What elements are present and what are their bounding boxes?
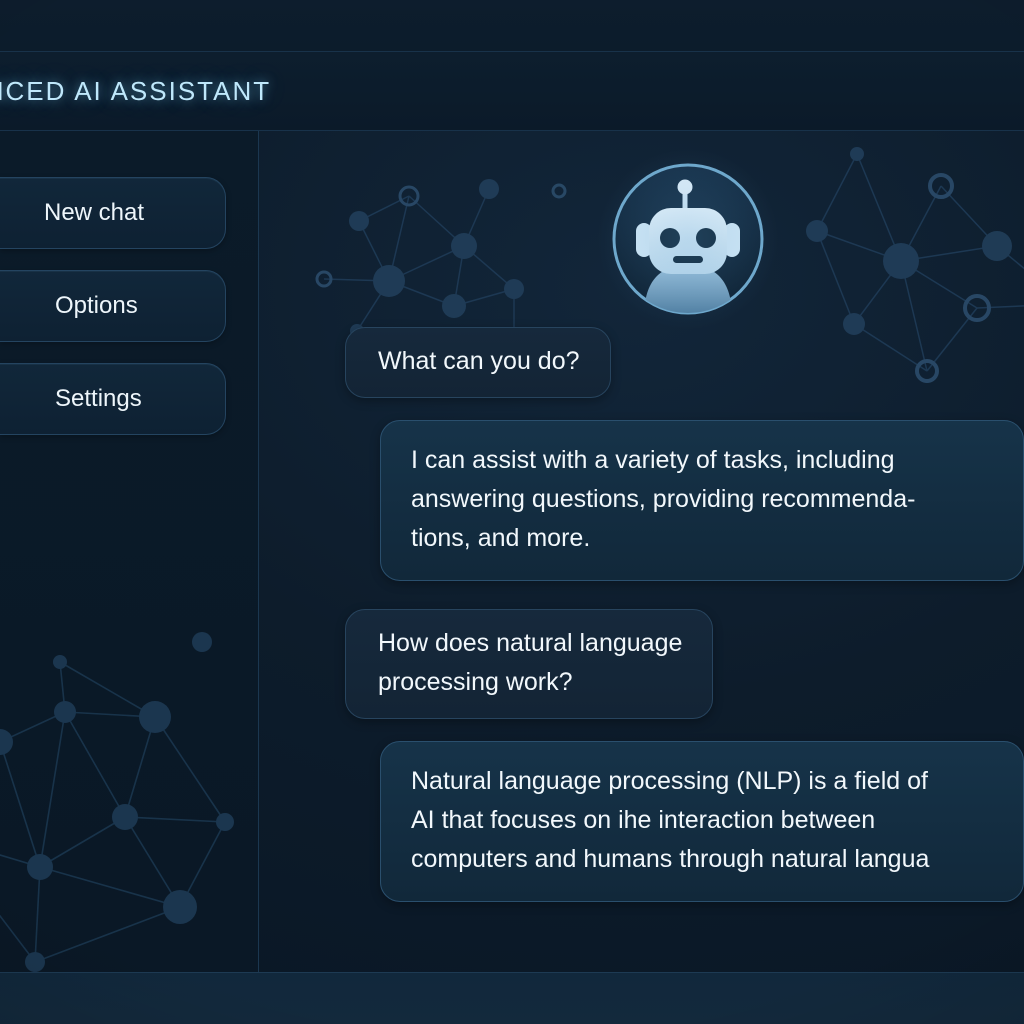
- app-window: VANCED AI ASSISTANT: [0, 0, 1024, 1024]
- app-footer: [0, 972, 1024, 1024]
- sidebar-item-label: New chat: [44, 199, 144, 227]
- sidebar-item-settings[interactable]: Settings: [0, 363, 226, 435]
- message-list: What can you do? I can assist with a var…: [259, 327, 1024, 902]
- spacer: [259, 581, 1024, 609]
- message-line: What can you do?: [378, 342, 580, 381]
- assistant-message-bubble[interactable]: Natural language processing (NLP) is a f…: [380, 741, 1024, 902]
- chat-panel: What can you do? I can assist with a var…: [259, 131, 1024, 972]
- avatar: [610, 161, 766, 317]
- avatar-glow: [594, 145, 782, 333]
- network-decoration-icon: [0, 622, 259, 972]
- sidebar-nav: New chat Options Settings: [0, 177, 226, 456]
- message-row: Natural language processing (NLP) is a f…: [259, 741, 1024, 902]
- sidebar-item-label: Options: [55, 292, 138, 320]
- window-top-strip: [0, 0, 1024, 52]
- spacer: [259, 719, 1024, 741]
- app-body: New chat Options Settings: [0, 131, 1024, 972]
- sidebar: New chat Options Settings: [0, 131, 259, 972]
- message-row: I can assist with a variety of tasks, in…: [259, 420, 1024, 581]
- page-title: VANCED AI ASSISTANT: [0, 76, 271, 107]
- message-row: What can you do?: [259, 327, 1024, 398]
- message-line: How does natural language: [378, 624, 682, 663]
- message-line: answering questions, providing recommend…: [411, 480, 995, 519]
- message-line: computers and humans through natural lan…: [411, 840, 995, 879]
- message-line: tions, and more.: [411, 519, 995, 558]
- message-line: AI that focuses on ihe interaction betwe…: [411, 801, 995, 840]
- sidebar-item-new-chat[interactable]: New chat: [0, 177, 226, 249]
- message-line: processing work?: [378, 663, 682, 702]
- message-row: How does natural language processing wor…: [259, 609, 1024, 719]
- spacer: [259, 398, 1024, 420]
- assistant-message-bubble[interactable]: I can assist with a variety of tasks, in…: [380, 420, 1024, 581]
- user-message-bubble[interactable]: What can you do?: [345, 327, 611, 398]
- sidebar-item-label: Settings: [55, 385, 142, 413]
- message-line: I can assist with a variety of tasks, in…: [411, 441, 995, 480]
- sidebar-item-options[interactable]: Options: [0, 270, 226, 342]
- message-line: Natural language processing (NLP) is a f…: [411, 762, 995, 801]
- app-header: VANCED AI ASSISTANT: [0, 52, 1024, 131]
- user-message-bubble[interactable]: How does natural language processing wor…: [345, 609, 713, 719]
